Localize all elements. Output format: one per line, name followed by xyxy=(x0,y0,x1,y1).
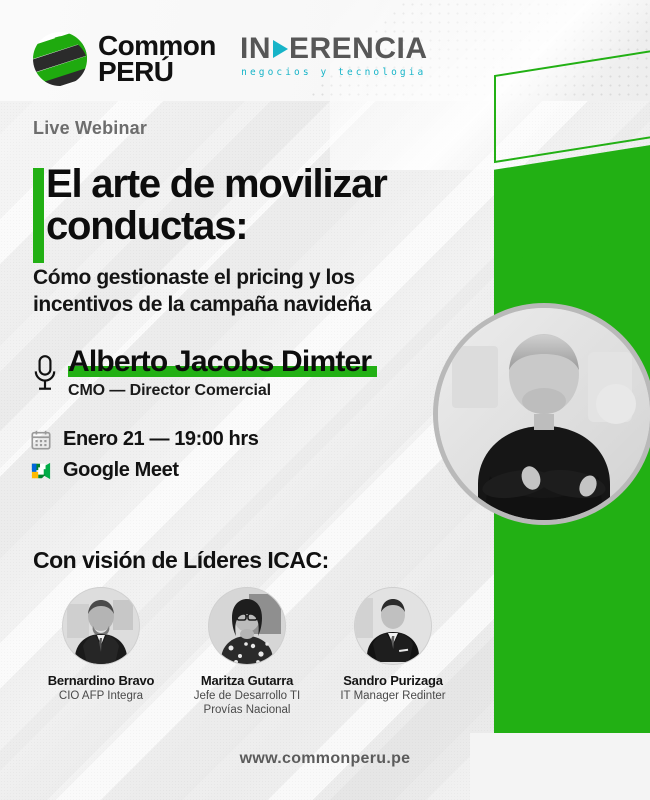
avatar xyxy=(355,588,431,664)
panelist-role: Jefe de Desarrollo TI Provías Nacional xyxy=(174,689,320,717)
list-item: Maritza Gutarra Jefe de Desarrollo TI Pr… xyxy=(174,588,320,717)
event-date: Enero 21 — 19:00 hrs xyxy=(63,428,258,451)
list-item: Sandro Purizaga IT Manager Redinter xyxy=(320,588,466,717)
avatar-image xyxy=(63,588,139,664)
footer-website: www.commonperu.pe xyxy=(0,750,650,768)
panelist-role-line1: Jefe de Desarrollo TI xyxy=(174,689,320,703)
speaker-block: Alberto Jacobs Dimter CMO — Director Com… xyxy=(30,345,371,400)
panelist-name: Sandro Purizaga xyxy=(320,673,466,688)
logo-common-line2: PERÚ xyxy=(98,59,216,85)
panelist-role-line1: CIO AFP Integra xyxy=(28,689,174,703)
ingerencia-part1: IN xyxy=(240,34,271,64)
avatar-image xyxy=(355,588,431,664)
event-date-row: Enero 21 — 19:00 hrs xyxy=(30,428,258,451)
speaker-role: CMO — Director Comercial xyxy=(68,382,371,400)
speaker-portrait xyxy=(438,308,650,520)
headline-line1: El arte de movilizar xyxy=(46,163,463,205)
play-triangle-icon xyxy=(273,40,288,58)
page-title: El arte de movilizar conductas: xyxy=(46,163,463,247)
webinar-poster: Common PERÚ IN ERENCIA negocios y tecnol… xyxy=(0,0,650,800)
panelist-name: Bernardino Bravo xyxy=(28,673,174,688)
panelist-list: Bernardino Bravo CIO AFP Integra xyxy=(28,588,468,717)
logo-row: Common PERÚ IN ERENCIA negocios y tecnol… xyxy=(0,26,650,90)
avatar xyxy=(209,588,285,664)
panelist-role-line2: Provías Nacional xyxy=(174,703,320,717)
panelist-role: CIO AFP Integra xyxy=(28,689,174,703)
panelist-name: Maritza Gutarra xyxy=(174,673,320,688)
panel-section-title: Con visión de Líderes ICAC: xyxy=(33,547,329,574)
ingerencia-part2: ERENCIA xyxy=(289,34,428,64)
ingerencia-wordmark: IN ERENCIA xyxy=(240,34,428,64)
subtitle-line2: incentivos de la campaña navideña xyxy=(33,292,453,319)
avatar-image xyxy=(209,588,285,664)
ingerencia-tagline: negocios y tecnologia xyxy=(240,67,428,78)
common-peru-wordmark: Common PERÚ xyxy=(98,33,216,85)
event-platform-row: Google Meet xyxy=(30,459,258,482)
panelist-role-line1: IT Manager Redinter xyxy=(320,689,466,703)
common-peru-logo: Common PERÚ xyxy=(33,32,216,86)
eyebrow-live-webinar: Live Webinar xyxy=(33,118,147,139)
list-item: Bernardino Bravo CIO AFP Integra xyxy=(28,588,174,717)
panelist-role: IT Manager Redinter xyxy=(320,689,466,703)
ingerencia-logo: IN ERENCIA negocios y tecnologia xyxy=(240,34,428,78)
event-meta: Enero 21 — 19:00 hrs Google Meet xyxy=(30,428,258,490)
subtitle: Cómo gestionaste el pricing y los incent… xyxy=(33,265,453,319)
avatar xyxy=(63,588,139,664)
microphone-icon xyxy=(32,353,58,393)
calendar-icon xyxy=(30,429,52,451)
green-accent-bar xyxy=(33,168,44,263)
speaker-name-wrap: Alberto Jacobs Dimter xyxy=(68,345,371,379)
globe-icon xyxy=(33,32,87,86)
google-meet-icon xyxy=(30,461,52,481)
speaker-portrait-image xyxy=(438,308,650,520)
headline-block: El arte de movilizar conductas: xyxy=(33,163,463,247)
event-platform: Google Meet xyxy=(63,459,179,482)
speaker-name: Alberto Jacobs Dimter xyxy=(68,345,371,379)
headline-line2: conductas: xyxy=(46,205,463,247)
subtitle-line1: Cómo gestionaste el pricing y los xyxy=(33,265,453,292)
